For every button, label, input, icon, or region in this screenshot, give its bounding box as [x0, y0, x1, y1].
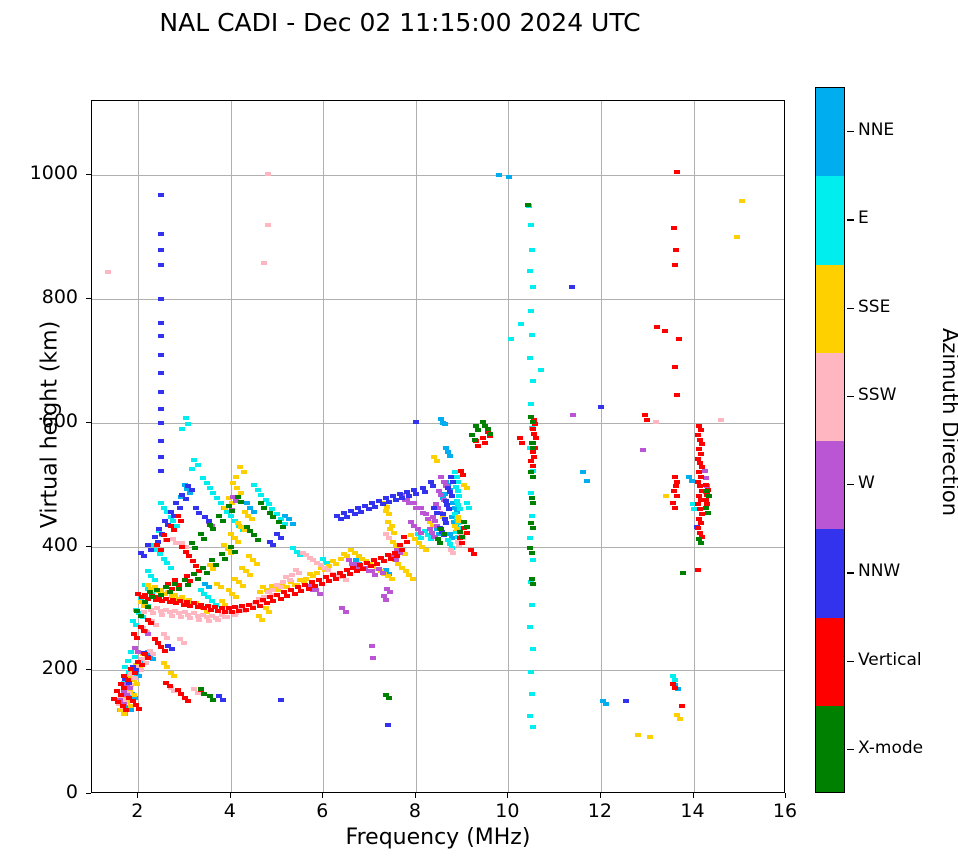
scatter-point-w — [432, 519, 438, 523]
scatter-point-w — [420, 511, 426, 515]
scatter-point-e — [530, 379, 536, 383]
scatter-point-vertical — [672, 365, 678, 369]
scatter-point-nnw — [338, 517, 344, 521]
scatter-point-sse — [164, 665, 170, 669]
scatter-point-vertical — [193, 564, 199, 568]
scatter-point-nne — [603, 702, 609, 706]
scatter-point-x-mode — [698, 541, 704, 545]
scatter-point-vertical — [164, 538, 170, 542]
scatter-point-vertical — [333, 577, 339, 581]
scatter-point-vertical — [699, 512, 705, 516]
scatter-point-nnw — [420, 486, 426, 490]
scatter-point-nnw — [158, 334, 164, 338]
scatter-point-ssw — [105, 270, 111, 274]
scatter-point-e — [529, 603, 535, 607]
colorbar-segment-w[interactable] — [816, 441, 844, 529]
scatter-point-vertical — [306, 587, 312, 591]
scatter-point-nnw — [406, 494, 412, 498]
scatter-point-e — [527, 269, 533, 273]
scatter-point-vertical — [674, 480, 680, 484]
scatter-point-w — [425, 517, 431, 521]
scatter-point-sse — [237, 465, 243, 469]
scatter-point-vertical — [154, 543, 160, 547]
scatter-point-x-mode — [258, 501, 264, 505]
scatter-point-vertical — [121, 686, 127, 690]
scatter-point-vertical — [703, 483, 709, 487]
scatter-point-vertical — [471, 552, 477, 556]
scatter-point-sse — [333, 562, 339, 566]
scatter-point-x-mode — [529, 441, 535, 445]
y-tick — [86, 793, 91, 794]
scatter-point-e — [527, 714, 533, 718]
scatter-point-e — [258, 493, 264, 497]
colorbar-tick — [847, 219, 854, 220]
scatter-point-vertical — [195, 605, 201, 609]
colorbar-segment-sse[interactable] — [816, 265, 844, 353]
scatter-point-sse — [338, 557, 344, 561]
scatter-point-ssw — [206, 619, 212, 623]
scatter-point-vertical — [208, 608, 214, 612]
colorbar-label-vertical: Vertical — [858, 650, 922, 670]
scatter-point-ssw — [718, 418, 724, 422]
scatter-point-x-mode — [461, 520, 467, 524]
scatter-point-sse — [423, 548, 429, 552]
scatter-point-sse — [218, 585, 224, 589]
colorbar-segment-e[interactable] — [816, 176, 844, 264]
scatter-point-vertical — [159, 599, 165, 603]
scatter-point-nnw — [278, 698, 284, 702]
scatter-point-sse — [171, 674, 177, 678]
scatter-point-sse — [259, 618, 265, 622]
scatter-point-sse — [739, 199, 745, 203]
scatter-point-e — [530, 285, 536, 289]
scatter-point-x-mode — [464, 525, 470, 529]
scatter-point-sse — [210, 567, 216, 571]
scatter-point-e — [157, 552, 163, 556]
scatter-point-sse — [410, 577, 416, 581]
scatter-point-ssw — [196, 618, 202, 622]
scatter-point-x-mode — [191, 572, 197, 576]
scatter-point-sse — [233, 595, 239, 599]
scatter-point-e — [418, 536, 424, 540]
x-axis-title: Frequency (MHz) — [91, 825, 785, 850]
scatter-point-nnw — [158, 263, 164, 267]
scatter-point-e — [529, 692, 535, 696]
scatter-point-x-mode — [209, 558, 215, 562]
scatter-point-ssw — [261, 261, 267, 265]
scatter-point-e — [128, 650, 134, 654]
scatter-point-x-mode — [204, 571, 210, 575]
scatter-point-ssw — [178, 615, 184, 619]
scatter-point-vertical — [136, 707, 142, 711]
page-title: NAL CADI - Dec 02 11:15:00 2024 UTC — [0, 8, 800, 37]
scatter-point-nnw — [196, 511, 202, 515]
x-tick — [507, 793, 508, 798]
scatter-point-vertical — [264, 601, 270, 605]
scatter-point-w — [441, 480, 447, 484]
scatter-point-e — [179, 427, 185, 431]
scatter-point-nnw — [344, 515, 350, 519]
scatter-point-vertical — [674, 494, 680, 498]
scatter-point-sse — [677, 717, 683, 721]
x-tick-label: 12 — [570, 800, 630, 822]
colorbar-label-e: E — [858, 208, 869, 228]
scatter-point-sse — [121, 712, 127, 716]
scatter-point-e — [528, 309, 534, 313]
scatter-point-w — [127, 686, 133, 690]
scatter-point-nnw — [158, 371, 164, 375]
colorbar-tick — [847, 484, 854, 485]
scatter-point-vertical — [381, 559, 387, 563]
scatter-point-sse — [464, 486, 470, 490]
scatter-point-vertical — [347, 572, 353, 576]
colorbar[interactable] — [815, 87, 845, 793]
scatter-point-vertical — [676, 337, 682, 341]
scatter-point-vertical — [354, 569, 360, 573]
scatter-point-nnw — [158, 193, 164, 197]
scatter-point-e — [455, 503, 461, 507]
scatter-point-vertical — [388, 557, 394, 561]
y-tick — [86, 298, 91, 299]
colorbar-segment-nne[interactable] — [816, 88, 844, 176]
scatter-point-e — [529, 248, 535, 252]
scatter-point-x-mode — [210, 698, 216, 702]
scatter-point-x-mode — [703, 506, 709, 510]
scatter-point-vertical — [319, 582, 325, 586]
scatter-point-vertical — [533, 436, 539, 440]
scatter-point-sse — [434, 459, 440, 463]
scatter-point-e — [161, 506, 167, 510]
scatter-point-x-mode — [475, 428, 481, 432]
scatter-point-e — [529, 514, 535, 518]
y-tick — [86, 669, 91, 670]
scatter-point-nnw — [189, 488, 195, 492]
scatter-point-ssw — [187, 616, 193, 620]
x-tick-label: 10 — [477, 800, 537, 822]
scatter-point-vertical — [167, 600, 173, 604]
scatter-point-x-mode — [232, 550, 238, 554]
colorbar-segment-nnw[interactable] — [816, 529, 844, 617]
scatter-point-x-mode — [529, 496, 535, 500]
scatter-point-nnw — [278, 536, 284, 540]
x-tick — [415, 793, 416, 798]
scatter-point-x-mode — [527, 546, 533, 550]
colorbar-tick — [847, 131, 854, 132]
scatter-point-sse — [234, 486, 240, 490]
scatter-point-vertical — [530, 450, 536, 454]
scatter-point-e — [183, 416, 189, 420]
scatter-point-vertical — [257, 604, 263, 608]
scatter-point-nnw — [399, 496, 405, 500]
scatter-point-vertical — [168, 524, 174, 528]
scatter-point-vertical — [312, 584, 318, 588]
scatter-point-vertical — [394, 554, 400, 558]
scatter-point-vertical — [270, 599, 276, 603]
y-axis-title: Virtual height (km) — [38, 175, 63, 675]
scatter-point-x-mode — [228, 545, 234, 549]
scatter-point-vertical — [697, 484, 703, 488]
scatter-point-x-mode — [528, 415, 534, 419]
scatter-point-e — [527, 625, 533, 629]
scatter-point-e — [464, 501, 470, 505]
scatter-point-vertical — [118, 693, 124, 697]
scatter-point-x-mode — [192, 546, 198, 550]
scatter-point-sse — [235, 540, 241, 544]
scatter-point-vertical — [201, 606, 207, 610]
scatter-point-w — [383, 598, 389, 602]
scatter-point-vertical — [697, 507, 703, 511]
scatter-point-nne — [247, 506, 253, 510]
scatter-point-ssw — [265, 172, 271, 176]
colorbar-title: Azimuth Direction — [938, 172, 958, 672]
scatter-point-e — [200, 476, 206, 480]
scatter-point-nnw — [270, 543, 276, 547]
colorbar-segment-vertical[interactable] — [816, 618, 844, 706]
scatter-point-vertical — [399, 548, 405, 552]
scatter-point-vertical — [671, 226, 677, 230]
scatter-point-nne — [506, 175, 512, 179]
scatter-point-x-mode — [145, 605, 151, 609]
colorbar-tick — [847, 661, 854, 662]
scatter-point-nnw — [569, 285, 575, 289]
scatter-point-ssw — [158, 609, 164, 613]
scatter-point-nnw — [445, 486, 451, 490]
scatter-point-nnw — [446, 507, 452, 511]
scatter-point-e — [132, 655, 138, 659]
scatter-point-x-mode — [680, 571, 686, 575]
colorbar-label-sse: SSE — [858, 297, 890, 317]
scatter-point-x-mode — [255, 538, 261, 542]
scatter-point-nne — [251, 510, 257, 514]
scatter-point-nnw — [158, 455, 164, 459]
scatter-point-sse — [647, 735, 653, 739]
scatter-point-x-mode — [142, 600, 148, 604]
scatter-point-vertical — [167, 684, 173, 688]
scatter-point-x-mode — [529, 577, 535, 581]
scatter-point-vertical — [671, 489, 677, 493]
scatter-point-nnw — [431, 506, 437, 510]
scatter-point-ssw — [159, 613, 165, 617]
scatter-point-sse — [389, 524, 395, 528]
scatter-point-ssw — [150, 611, 156, 615]
scatter-point-ssw — [132, 676, 138, 680]
scatter-point-w — [413, 506, 419, 510]
scatter-point-e — [251, 483, 257, 487]
scatter-point-ssw — [386, 536, 392, 540]
scatter-point-nnw — [148, 548, 154, 552]
scatter-point-x-mode — [150, 595, 156, 599]
scatter-point-x-mode — [200, 566, 206, 570]
scatter-point-vertical — [672, 506, 678, 510]
scatter-point-x-mode — [154, 588, 160, 592]
scatter-point-x-mode — [207, 523, 213, 527]
scatter-point-e — [191, 458, 197, 462]
x-tick-label: 2 — [107, 800, 167, 822]
scatter-point-e — [528, 670, 534, 674]
scatter-point-ssw — [653, 420, 659, 424]
scatter-point-e — [518, 322, 524, 326]
scatter-point-x-mode — [198, 532, 204, 536]
scatter-point-vertical — [175, 514, 181, 518]
scatter-point-e — [452, 470, 458, 474]
scatter-point-sse — [134, 682, 140, 686]
scatter-point-ssw — [265, 223, 271, 227]
scatter-point-e — [530, 558, 536, 562]
scatter-point-nnw — [434, 511, 440, 515]
scatter-point-e — [152, 578, 158, 582]
scatter-point-nnw — [158, 421, 164, 425]
scatter-point-nne — [580, 470, 586, 474]
scatter-point-x-mode — [158, 593, 164, 597]
scatter-point-vertical — [698, 428, 704, 432]
scatter-point-vertical — [183, 550, 189, 554]
scatter-point-sse — [266, 610, 272, 614]
scatter-point-e — [527, 356, 533, 360]
scatter-point-x-mode — [280, 525, 286, 529]
scatter-point-x-mode — [172, 582, 178, 586]
scatter-point-x-mode — [138, 614, 144, 618]
scatter-point-ssw — [270, 588, 276, 592]
scatter-point-e — [189, 467, 195, 471]
scatter-point-vertical — [698, 452, 704, 456]
scatter-point-nnw — [372, 505, 378, 509]
scatter-point-w — [317, 592, 323, 596]
scatter-point-nnw — [393, 498, 399, 502]
scatter-point-vertical — [360, 567, 366, 571]
scatter-point-vertical — [695, 568, 701, 572]
scatter-point-x-mode — [530, 582, 536, 586]
scatter-point-vertical — [695, 433, 701, 437]
scatter-point-nnw — [158, 390, 164, 394]
scatter-point-e — [530, 725, 536, 729]
scatter-point-vertical — [250, 606, 256, 610]
scatter-point-nnw — [158, 353, 164, 357]
chart-root: NAL CADI - Dec 02 11:15:00 2024 UTC 2468… — [0, 0, 958, 857]
scatter-point-w — [380, 571, 386, 575]
scatter-point-e — [168, 566, 174, 570]
scatter-point-nne — [689, 479, 695, 483]
scatter-point-x-mode — [229, 509, 235, 513]
scatter-point-vertical — [148, 621, 154, 625]
scatter-point-ssw — [296, 571, 302, 575]
colorbar-label-nne: NNE — [858, 120, 894, 140]
y-tick — [86, 174, 91, 175]
x-tick — [785, 793, 786, 798]
scatter-point-x-mode — [222, 557, 228, 561]
scatter-point-sse — [635, 733, 641, 737]
scatter-point-w — [387, 590, 393, 594]
x-tick-label: 8 — [385, 800, 445, 822]
plot-area[interactable] — [91, 100, 785, 793]
scatter-point-e — [466, 506, 472, 510]
scatter-point-vertical — [123, 708, 129, 712]
scatter-point-sse — [249, 517, 255, 521]
scatter-point-nnw — [413, 492, 419, 496]
colorbar-segment-ssw[interactable] — [816, 353, 844, 441]
scatter-points-layer — [92, 101, 784, 792]
scatter-point-nnw — [158, 321, 164, 325]
scatter-point-x-mode — [195, 577, 201, 581]
scatter-point-x-mode — [185, 583, 191, 587]
scatter-point-w — [640, 448, 646, 452]
scatter-point-nnw — [158, 248, 164, 252]
scatter-point-nne — [442, 422, 448, 426]
scatter-point-nne — [443, 446, 449, 450]
scatter-point-vertical — [642, 413, 648, 417]
scatter-point-nnw — [413, 420, 419, 424]
scatter-point-nnw — [158, 297, 164, 301]
scatter-point-sse — [257, 590, 263, 594]
scatter-point-nnw — [158, 407, 164, 411]
scatter-point-x-mode — [705, 511, 711, 515]
scatter-point-ssw — [204, 615, 210, 619]
scatter-point-vertical — [134, 636, 140, 640]
scatter-point-nne — [290, 522, 296, 526]
scatter-point-x-mode — [216, 514, 222, 518]
scatter-point-ssw — [185, 613, 191, 617]
scatter-point-x-mode — [528, 470, 534, 474]
scatter-point-ssw — [167, 610, 173, 614]
scatter-point-vertical — [278, 597, 284, 601]
scatter-point-sse — [254, 562, 260, 566]
scatter-point-x-mode — [472, 438, 478, 442]
x-tick — [693, 793, 694, 798]
scatter-point-e — [528, 402, 534, 406]
scatter-point-vertical — [695, 502, 701, 506]
scatter-point-vertical — [158, 548, 164, 552]
colorbar-segment-x-mode[interactable] — [816, 706, 844, 793]
scatter-point-nnw — [422, 490, 428, 494]
scatter-point-nnw — [158, 232, 164, 236]
scatter-point-nnw — [440, 512, 446, 516]
scatter-point-e — [210, 491, 216, 495]
scatter-point-x-mode — [147, 590, 153, 594]
x-tick-label: 16 — [755, 800, 815, 822]
scatter-point-vertical — [696, 424, 702, 428]
scatter-point-nnw — [386, 500, 392, 504]
scatter-point-nnw — [430, 484, 436, 488]
scatter-point-sse — [233, 475, 239, 479]
scatter-point-vertical — [326, 579, 332, 583]
scatter-point-e — [528, 223, 534, 227]
scatter-point-vertical — [145, 656, 151, 660]
scatter-point-vertical — [519, 441, 525, 445]
scatter-point-nnw — [598, 405, 604, 409]
scatter-point-vertical — [292, 592, 298, 596]
scatter-point-vertical — [673, 248, 679, 252]
scatter-point-vertical — [374, 562, 380, 566]
x-tick — [322, 793, 323, 798]
x-tick-label: 6 — [292, 800, 352, 822]
scatter-point-vertical — [298, 589, 304, 593]
colorbar-label-nnw: NNW — [858, 561, 900, 581]
scatter-point-nnw — [169, 647, 175, 651]
scatter-point-vertical — [222, 610, 228, 614]
scatter-point-vertical — [368, 564, 374, 568]
scatter-point-vertical — [181, 603, 187, 607]
scatter-point-nnw — [428, 480, 434, 484]
scatter-point-nnw — [158, 469, 164, 473]
scatter-point-x-mode — [530, 475, 536, 479]
scatter-point-vertical — [662, 329, 668, 333]
scatter-point-ssw — [195, 614, 201, 618]
scatter-point-vertical — [132, 671, 138, 675]
scatter-point-sse — [734, 235, 740, 239]
scatter-point-e — [528, 491, 534, 495]
scatter-point-ssw — [450, 551, 456, 555]
colorbar-tick — [847, 749, 854, 750]
x-tick — [600, 793, 601, 798]
